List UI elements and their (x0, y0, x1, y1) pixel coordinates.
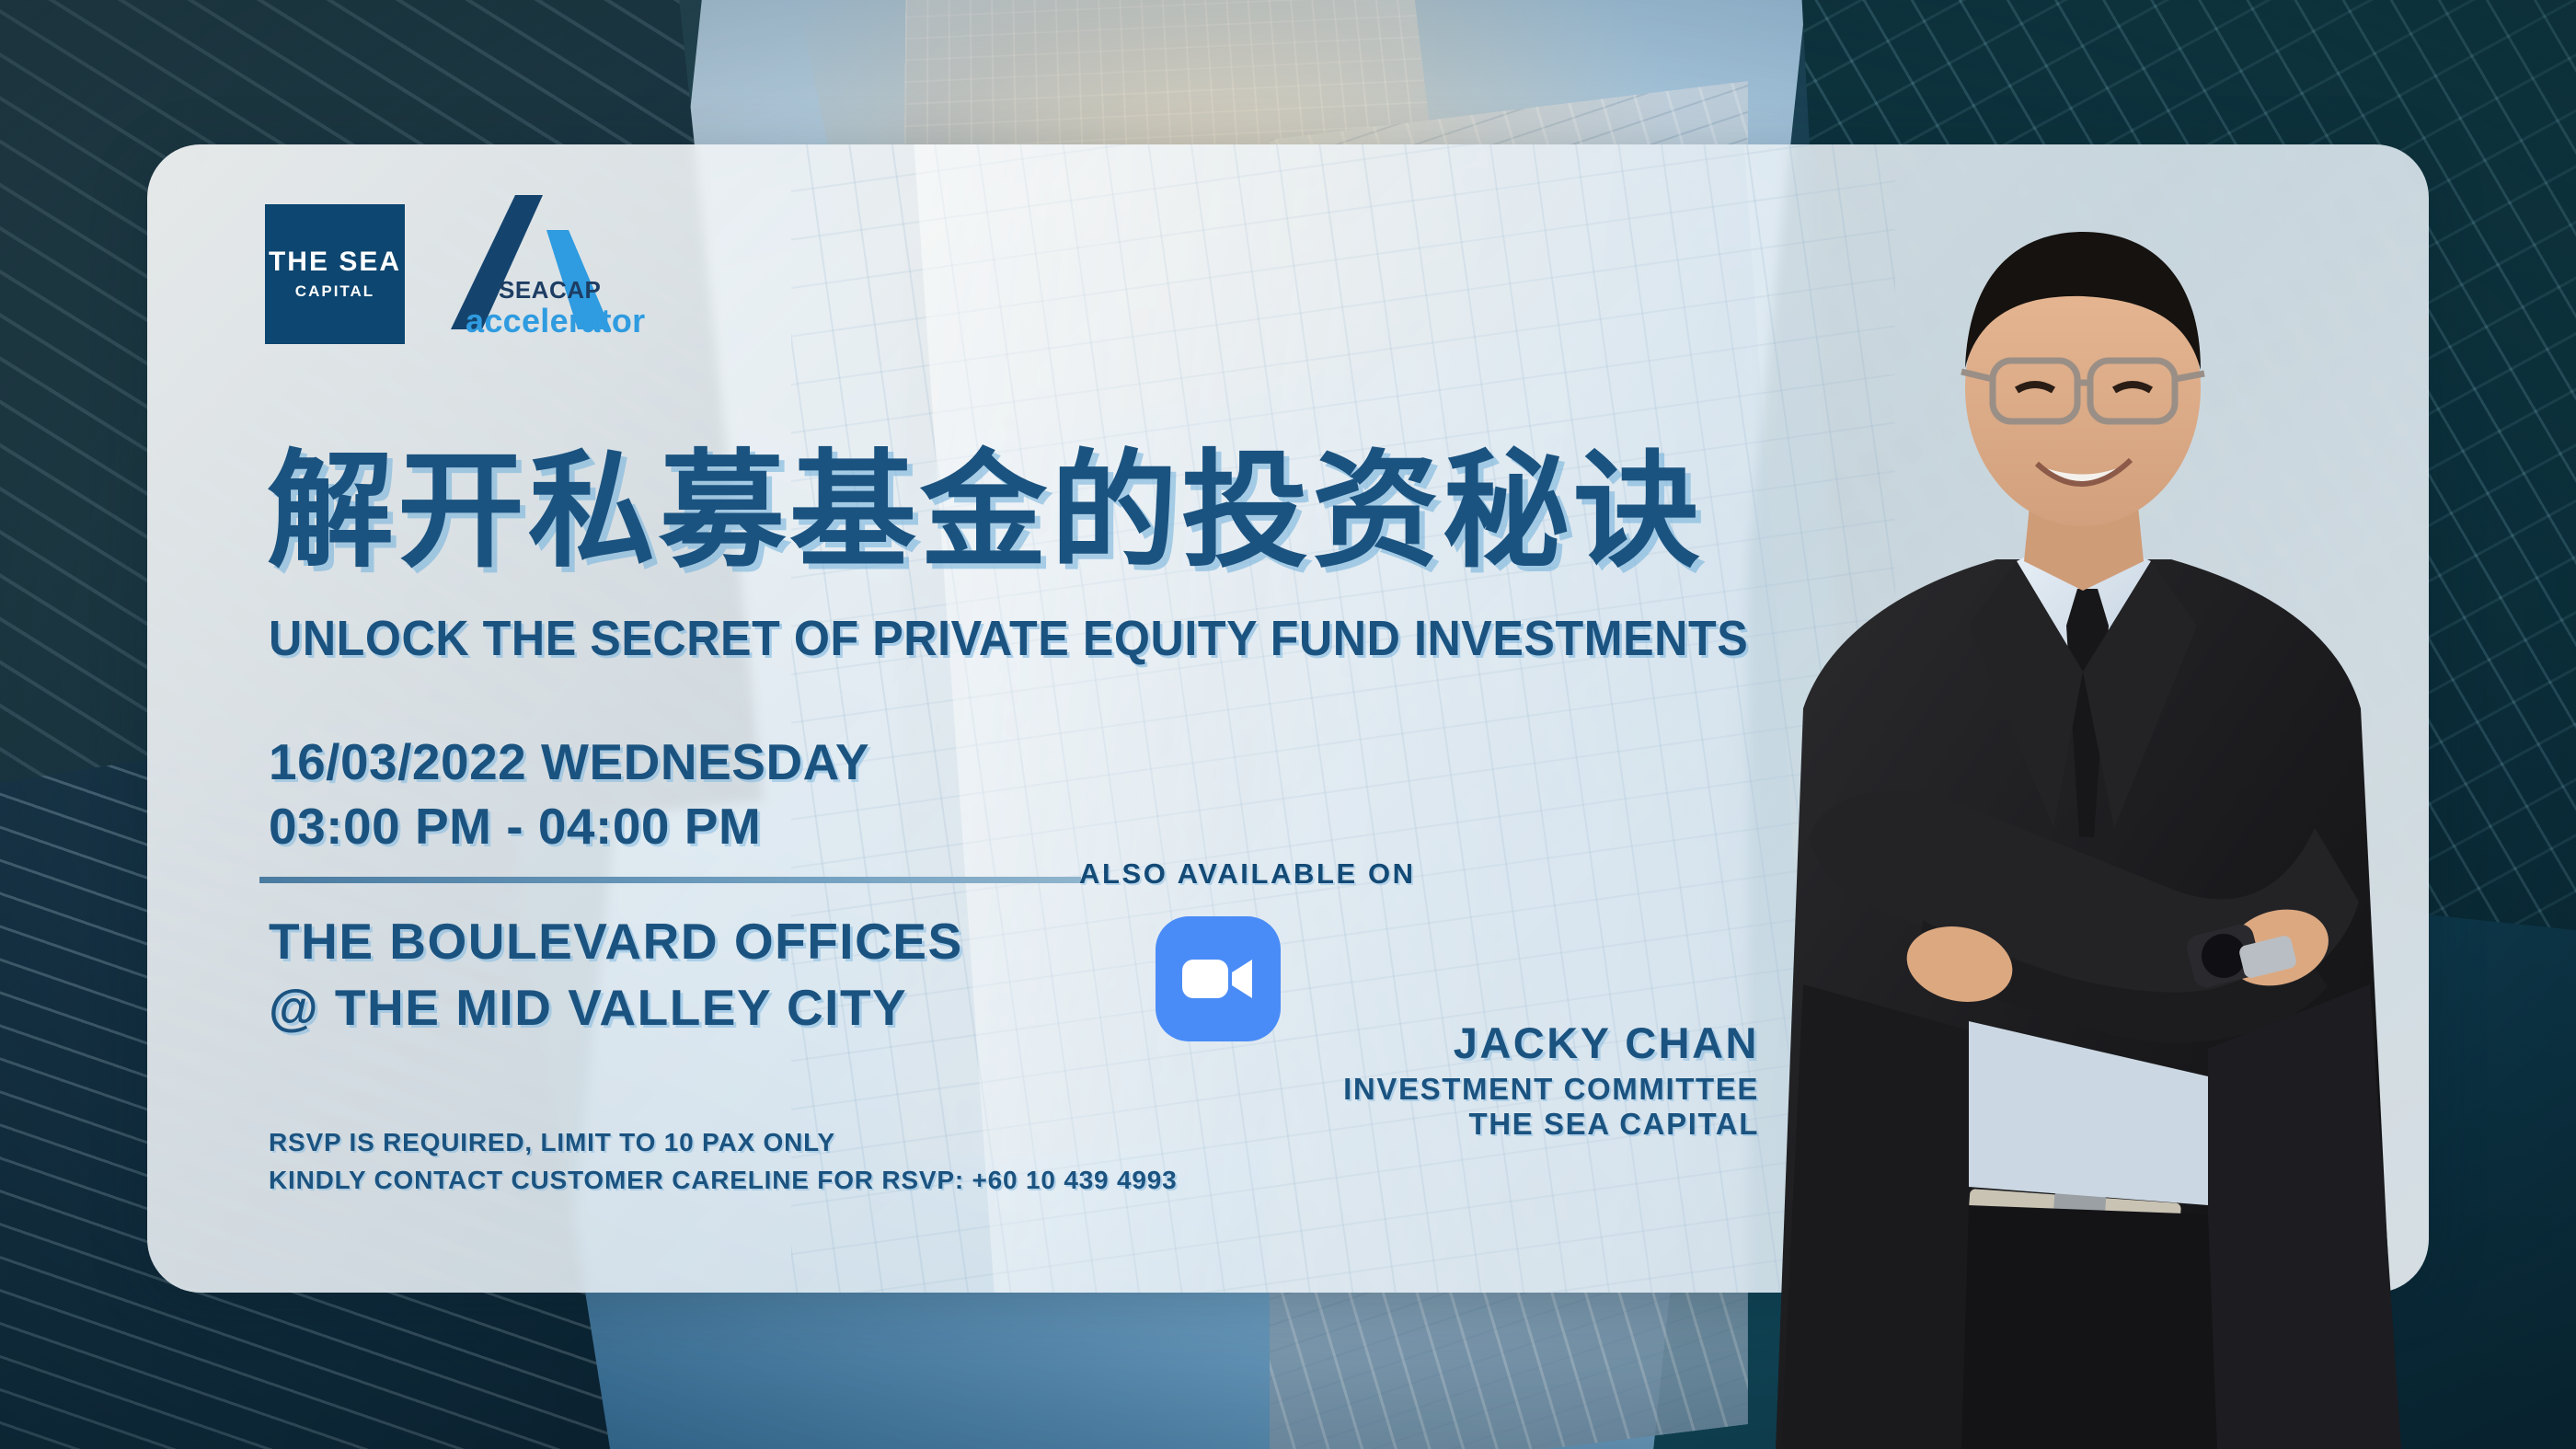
also-available-label: ALSO AVAILABLE ON (1079, 857, 1416, 891)
rsvp-line-1: RSVP IS REQUIRED, LIMIT TO 10 PAX ONLY (269, 1124, 1178, 1162)
headline-english: UNLOCK THE SECRET OF PRIVATE EQUITY FUND… (269, 610, 1748, 667)
the-sea-capital-logo: THE SEA CAPITAL (265, 204, 405, 344)
zoom-camera-icon[interactable] (1156, 916, 1281, 1041)
seacap-wordmark: SEACAP (499, 276, 601, 305)
rsvp-line-2: KINDLY CONTACT CUSTOMER CARELINE FOR RSV… (269, 1162, 1178, 1200)
sea-capital-name: THE SEA (269, 248, 401, 276)
event-datetime: 16/03/2022 WEDNESDAY 03:00 PM - 04:00 PM (269, 730, 869, 859)
seacap-accelerator-logo: SEACAP accelerator (443, 206, 618, 344)
speaker-name: JACKY CHAN (1343, 1018, 1759, 1068)
speaker-figure (1693, 193, 2466, 1449)
venue-line-2: @ THE MID VALLEY CITY (269, 975, 963, 1041)
accelerator-wordmark: accelerator (466, 302, 645, 340)
venue-line-1: THE BOULEVARD OFFICES (269, 909, 963, 975)
speaker-portrait (1693, 193, 2466, 1449)
event-poster: THE SEA CAPITAL SEACAP accelerator 解开私募基… (0, 0, 2576, 1449)
event-date: 16/03/2022 WEDNESDAY (269, 730, 869, 794)
event-time: 03:00 PM - 04:00 PM (269, 794, 869, 858)
section-divider (259, 877, 1081, 883)
event-venue: THE BOULEVARD OFFICES @ THE MID VALLEY C… (269, 909, 963, 1041)
video-camera-glyph (1182, 956, 1254, 1002)
rsvp-note: RSVP IS REQUIRED, LIMIT TO 10 PAX ONLY K… (269, 1124, 1178, 1199)
logo-row: THE SEA CAPITAL SEACAP accelerator (265, 204, 618, 344)
headline-chinese: 解开私募基金的投资秘诀 (267, 448, 1704, 575)
sea-capital-subtitle: CAPITAL (295, 282, 374, 301)
speaker-credit: JACKY CHAN INVESTMENT COMMITTEE THE SEA … (1343, 1018, 1759, 1142)
speaker-organisation: THE SEA CAPITAL (1343, 1107, 1759, 1142)
speaker-role: INVESTMENT COMMITTEE (1343, 1072, 1759, 1107)
